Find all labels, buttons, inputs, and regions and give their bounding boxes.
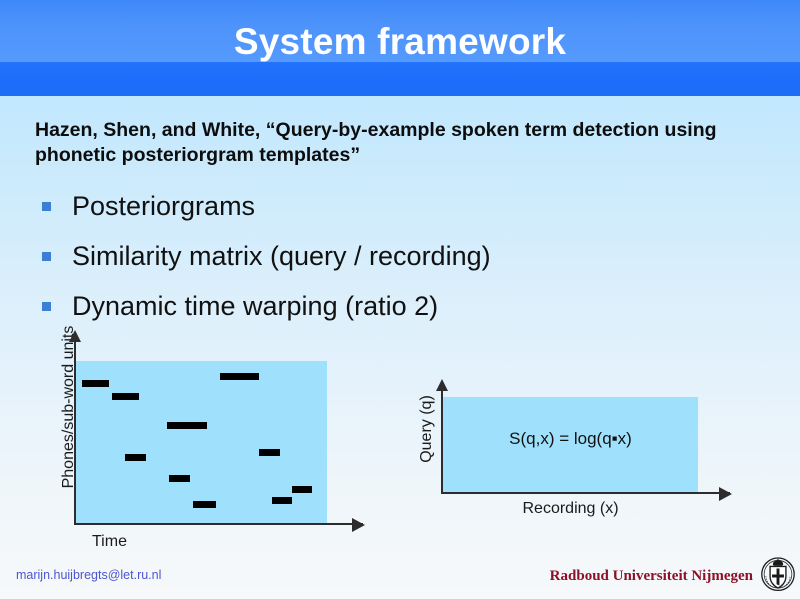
list-item-label: Posteriorgrams bbox=[72, 189, 255, 223]
list-item: Posteriorgrams bbox=[42, 189, 742, 239]
footer-brand-label: Radboud Universiteit Nijmegen bbox=[550, 568, 753, 585]
posteriorgram-segment bbox=[272, 497, 292, 504]
posteriorgram-figure: Phones/sub-word units Time bbox=[30, 330, 380, 560]
similarity-matrix-figure: Query (q) S(q,x) = log(q▪x) Recording (x… bbox=[405, 373, 775, 533]
posteriorgram-x-axis-label: Time bbox=[92, 533, 127, 551]
list-item: Similarity matrix (query / recording) bbox=[42, 239, 742, 289]
posteriorgram-segment bbox=[193, 501, 216, 508]
list-item-label: Similarity matrix (query / recording) bbox=[72, 239, 491, 273]
list-item-label: Dynamic time warping (ratio 2) bbox=[72, 289, 438, 323]
square-bullet-icon bbox=[42, 202, 51, 211]
posteriorgram-segment bbox=[167, 422, 207, 429]
x-axis-arrow-icon bbox=[719, 487, 732, 501]
posteriorgram-segment bbox=[169, 475, 190, 482]
slide-header: System framework bbox=[0, 0, 800, 96]
similarity-x-axis bbox=[441, 492, 730, 494]
x-axis-arrow-icon bbox=[352, 518, 365, 532]
radboud-seal-logo-icon bbox=[760, 556, 796, 596]
posteriorgram-segment bbox=[125, 454, 146, 461]
posteriorgram-segment bbox=[292, 486, 312, 493]
similarity-formula: S(q,x) = log(q▪x) bbox=[443, 429, 698, 449]
page-title: System framework bbox=[0, 20, 800, 64]
posteriorgram-x-axis bbox=[74, 523, 363, 525]
square-bullet-icon bbox=[42, 302, 51, 311]
citation-text: Hazen, Shen, and White, “Query-by-exampl… bbox=[35, 118, 725, 168]
posteriorgram-segment bbox=[259, 449, 280, 456]
posteriorgram-segment bbox=[112, 393, 139, 400]
square-bullet-icon bbox=[42, 252, 51, 261]
bullet-list: Posteriorgrams Similarity matrix (query … bbox=[42, 189, 742, 339]
similarity-y-axis-label: Query (q) bbox=[418, 379, 436, 479]
similarity-x-axis-label: Recording (x) bbox=[443, 500, 698, 518]
footer-email-link[interactable]: marijn.huijbregts@let.ru.nl bbox=[16, 568, 161, 582]
slide: System framework Hazen, Shen, and White,… bbox=[0, 0, 800, 599]
posteriorgram-segment bbox=[220, 373, 259, 380]
posteriorgram-segment bbox=[82, 380, 109, 387]
footer-branding: Radboud Universiteit Nijmegen bbox=[550, 556, 796, 596]
header-band-bottom bbox=[0, 62, 800, 96]
posteriorgram-plot-area bbox=[76, 361, 327, 523]
